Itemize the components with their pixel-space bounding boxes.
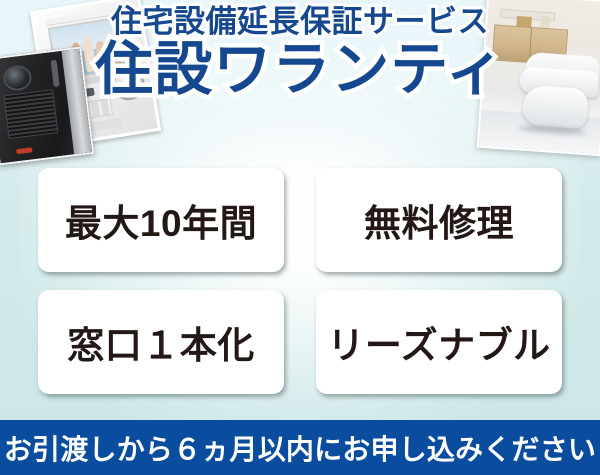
- application-deadline-text: お引渡しから６ヵ月以内にお申し込みください: [4, 428, 596, 468]
- monitor-screen-person: [107, 42, 121, 68]
- feature-box-single-contact[interactable]: 窓口１本化: [38, 290, 284, 394]
- feature-box-grid: 最大10年間 無料修理 窓口１本化 リーズナブル: [38, 168, 562, 394]
- doorphone-speaker-grille: [4, 90, 59, 139]
- feature-label-free-repair: 無料修理: [364, 193, 514, 247]
- toilet-bowl: [521, 85, 588, 129]
- feature-box-reasonable[interactable]: リーズナブル: [316, 290, 562, 394]
- feature-box-max-years[interactable]: 最大10年間: [38, 168, 284, 272]
- application-deadline-banner[interactable]: お引渡しから６ヵ月以内にお申し込みください: [0, 420, 600, 475]
- doorphone-outdoor-photo: [0, 47, 94, 166]
- warranty-service-banner: 住宅設備延長保証サービス 住設ワランティ 最大10年間 無料修理 窓口１本化 リ…: [0, 0, 600, 475]
- feature-label-max-years: 最大10年間: [65, 193, 257, 247]
- feature-label-single-contact: 窓口１本化: [67, 315, 255, 369]
- feature-box-free-repair[interactable]: 無料修理: [316, 168, 562, 272]
- feature-label-reasonable: リーズナブル: [327, 315, 550, 369]
- toilet-washlet-photo: [477, 0, 600, 156]
